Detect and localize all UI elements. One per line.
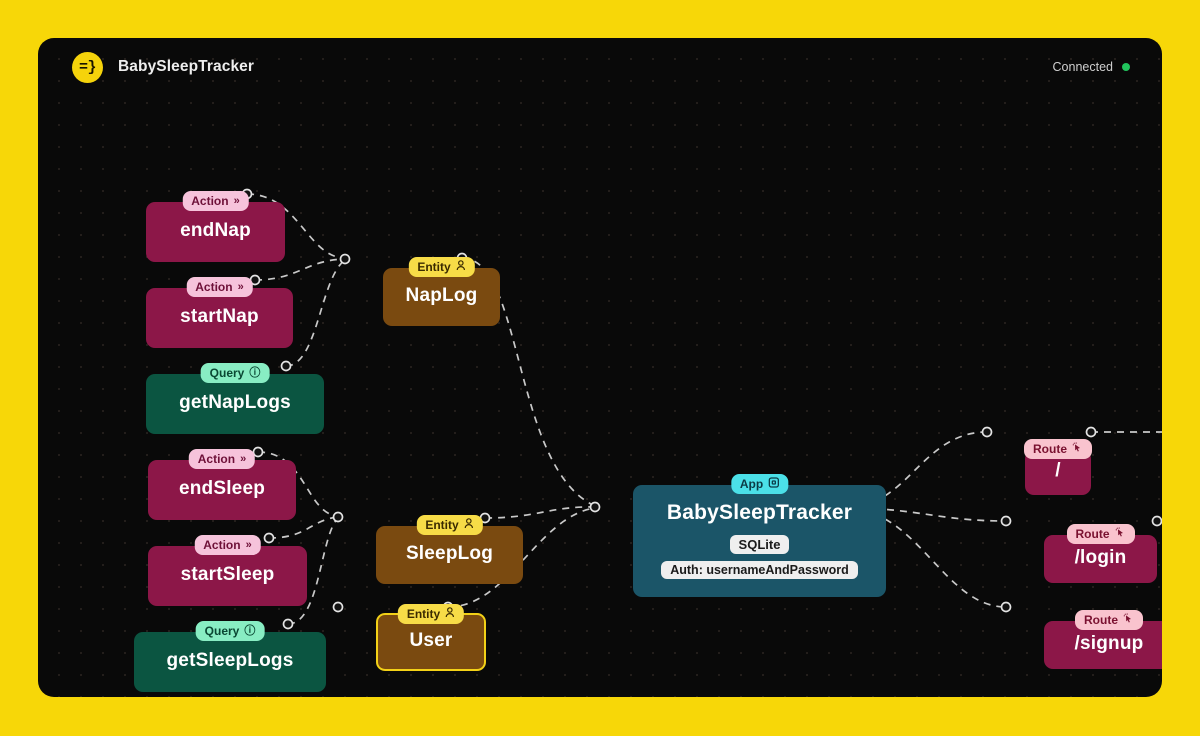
status-label: Connected	[1053, 60, 1113, 74]
port-getSleepLogs-out	[284, 620, 293, 629]
badge-action: Action »	[189, 449, 255, 469]
app-square-icon	[768, 477, 779, 491]
node-getSleepLogs[interactable]: Query ⓘ getSleepLogs	[134, 632, 326, 692]
badge-label: Action	[198, 451, 235, 467]
node-title: User	[409, 631, 452, 652]
node-title: getNapLogs	[179, 393, 291, 414]
node-title: endNap	[180, 221, 251, 242]
badge-query: Query ⓘ	[196, 621, 265, 641]
node-title: /signup	[1075, 634, 1144, 655]
badge-label: Entity	[407, 606, 440, 622]
person-icon	[464, 518, 474, 532]
port-App-in	[591, 503, 600, 512]
action-chevrons-icon: »	[238, 282, 244, 293]
port-SleepLog-in	[334, 513, 343, 522]
node-NapLog[interactable]: Entity NapLog	[383, 268, 500, 326]
action-chevrons-icon: »	[246, 540, 252, 551]
badge-label: Query	[205, 623, 240, 639]
badge-entity: Entity	[408, 257, 474, 277]
node-SleepLog[interactable]: Entity SleepLog	[376, 526, 523, 584]
edge-startSleep-SleepLog	[269, 517, 338, 538]
port-User-in	[334, 603, 343, 612]
node-title: /	[1055, 461, 1060, 482]
badge-label: Entity	[425, 517, 458, 533]
badge-label: Action	[203, 537, 240, 553]
badge-route: Route	[1024, 439, 1092, 459]
connection-status: Connected	[1053, 60, 1130, 74]
person-icon	[456, 260, 466, 274]
cursor-click-icon	[1115, 527, 1126, 541]
edge-getNapLogs-NapLog	[286, 260, 345, 366]
badge-app: App	[731, 474, 788, 494]
port-endSleep-out	[254, 448, 263, 457]
port-RouteRoot-in	[983, 428, 992, 437]
badge-query: Query ⓘ	[201, 363, 270, 383]
port-RouteLogin-in	[1002, 517, 1011, 526]
badge-entity: Entity	[416, 515, 482, 535]
node-title: startSleep	[181, 565, 275, 586]
database-chip: SQLite	[730, 535, 790, 554]
node-title: SleepLog	[406, 544, 493, 565]
edge-SleepLog-App	[485, 507, 595, 518]
badge-route: Route	[1075, 610, 1143, 630]
node-title: NapLog	[406, 286, 478, 307]
question-circle-icon: ⓘ	[249, 368, 260, 379]
node-route-login[interactable]: Route /login	[1044, 535, 1157, 583]
node-startSleep[interactable]: Action » startSleep	[148, 546, 307, 606]
app-meta-chips: SQLite Auth: usernameAndPassword	[661, 535, 858, 579]
port-startSleep-out	[265, 534, 274, 543]
app-title: BabySleepTracker	[667, 501, 852, 524]
port-RouteLogin-out	[1153, 517, 1162, 526]
node-getNapLogs[interactable]: Query ⓘ getNapLogs	[146, 374, 324, 434]
page-title: BabySleepTracker	[118, 58, 254, 76]
port-RouteRoot-out	[1087, 428, 1096, 437]
badge-action: Action »	[182, 191, 248, 211]
cursor-click-icon	[1072, 442, 1083, 456]
node-route-root[interactable]: Route /	[1025, 450, 1091, 495]
badge-label: Route	[1033, 441, 1067, 457]
question-circle-icon: ⓘ	[244, 626, 255, 637]
status-dot-icon	[1122, 63, 1130, 71]
badge-route: Route	[1067, 524, 1135, 544]
page-frame: =} BabySleepTracker Connected	[0, 0, 1200, 736]
badge-label: Route	[1076, 526, 1110, 542]
auth-chip: Auth: usernameAndPassword	[661, 561, 858, 579]
port-RouteSignup-in	[1002, 603, 1011, 612]
badge-label: Query	[210, 365, 245, 381]
app-header: =} BabySleepTracker Connected	[38, 38, 1162, 96]
node-title: getSleepLogs	[167, 651, 294, 672]
badge-label: Entity	[417, 259, 450, 275]
node-title: /login	[1075, 548, 1127, 569]
person-icon	[445, 607, 455, 621]
port-getNapLogs-out	[282, 362, 291, 371]
node-startNap[interactable]: Action » startNap	[146, 288, 293, 348]
badge-label: Route	[1084, 612, 1118, 628]
node-title: startNap	[180, 307, 259, 328]
cursor-click-icon	[1123, 613, 1134, 627]
node-app-BabySleepTracker[interactable]: App BabySleepTracker SQLite Auth: userna…	[633, 485, 886, 597]
badge-label: Action	[191, 193, 228, 209]
node-title: endSleep	[179, 479, 265, 500]
action-chevrons-icon: »	[240, 454, 246, 465]
action-chevrons-icon: »	[234, 196, 240, 207]
diagram-canvas[interactable]: =} BabySleepTracker Connected	[38, 38, 1162, 697]
node-User[interactable]: Entity User	[376, 613, 486, 671]
port-NapLog-in	[341, 255, 350, 264]
badge-action: Action »	[186, 277, 252, 297]
edge-startNap-NapLog	[255, 259, 345, 280]
badge-action: Action »	[194, 535, 260, 555]
wasp-logo-icon: =}	[72, 52, 103, 83]
node-endNap[interactable]: Action » endNap	[146, 202, 285, 262]
badge-entity: Entity	[398, 604, 464, 624]
badge-label: App	[740, 476, 763, 492]
node-route-signup[interactable]: Route /signup	[1044, 621, 1162, 669]
badge-label: Action	[195, 279, 232, 295]
node-endSleep[interactable]: Action » endSleep	[148, 460, 296, 520]
